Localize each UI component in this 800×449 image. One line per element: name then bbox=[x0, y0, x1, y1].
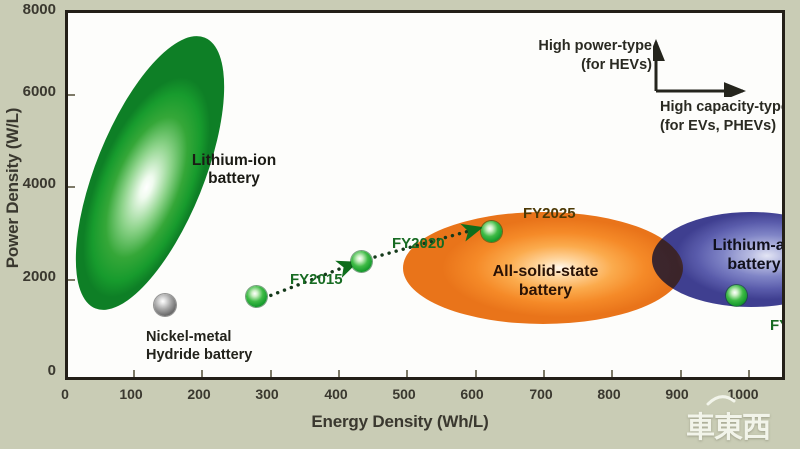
marker-label-fy2025: FY2025 bbox=[523, 205, 576, 222]
y-tick-label-2000: 2000 bbox=[0, 268, 56, 285]
annotation-high-power-type: High power-type (for HEVs) bbox=[520, 37, 652, 75]
y-tick-label-8000: 8000 bbox=[0, 1, 56, 18]
marker-label-fy2020: FY2020 bbox=[392, 235, 445, 252]
x-tick-label-600: 600 bbox=[449, 386, 495, 402]
annotation-power-line1: High power-type bbox=[538, 38, 652, 54]
x-tick-label-0: 0 bbox=[42, 386, 88, 402]
x-tick-label-400: 400 bbox=[313, 386, 359, 402]
x-axis-title: Energy Density (Wh/L) bbox=[0, 412, 800, 432]
y-tick-label-4000: 4000 bbox=[0, 175, 56, 192]
watermark: 車東西 bbox=[686, 404, 770, 446]
annotation-power-line2: (for HEVs) bbox=[581, 57, 652, 73]
marker-label-fy2030: FY2030 bbox=[770, 317, 785, 334]
annotation-capacity-line2: (for EVs, PHEVs) bbox=[660, 118, 776, 134]
y-tick-label-6000: 6000 bbox=[0, 83, 56, 100]
marker-label-fy2015: FY2015 bbox=[290, 271, 343, 288]
marker-nickel-metal-hydride bbox=[154, 294, 176, 316]
x-tick-label-200: 200 bbox=[176, 386, 222, 402]
x-tick-label-100: 100 bbox=[108, 386, 154, 402]
marker-fy2025 bbox=[481, 221, 502, 242]
chart-root: Power Density (W/L) 8000 6000 4000 2000 … bbox=[0, 0, 800, 449]
x-tick-label-800: 800 bbox=[586, 386, 632, 402]
marker-fy2015 bbox=[246, 286, 267, 307]
annotation-high-capacity-type: High capacity-type (for EVs, PHEVs) bbox=[660, 98, 785, 136]
x-tick-label-900: 900 bbox=[654, 386, 700, 402]
x-tick-label-300: 300 bbox=[244, 386, 290, 402]
axis-guide-arrows bbox=[653, 35, 748, 97]
marker-fy2030 bbox=[726, 285, 747, 306]
x-tick-label-700: 700 bbox=[518, 386, 564, 402]
plot-inner: Lithium-ion battery All-solid-state batt… bbox=[68, 13, 782, 377]
y-tick-label-0: 0 bbox=[0, 362, 56, 379]
marker-fy2020 bbox=[351, 251, 372, 272]
x-tick-label-500: 500 bbox=[381, 386, 427, 402]
annotation-capacity-line1: High capacity-type bbox=[660, 99, 785, 115]
plot-area: Lithium-ion battery All-solid-state batt… bbox=[65, 10, 785, 380]
